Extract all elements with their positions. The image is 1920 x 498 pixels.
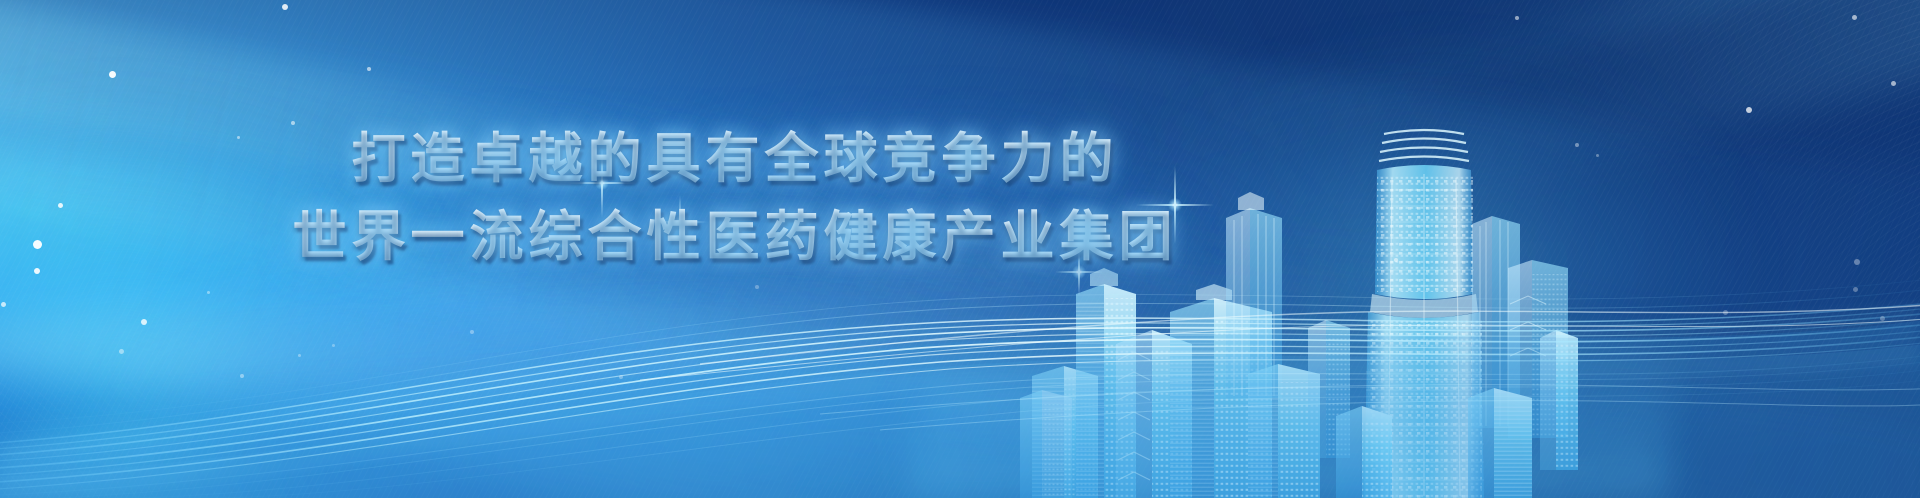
headline-line-2-wrap: 世界一流综合性医药健康产业集团 世界一流综合性医药健康产业集团 [293, 200, 1178, 274]
headline-line-2: 世界一流综合性医药健康产业集团 [293, 200, 1178, 274]
headline-line-1: 打造卓越的具有全球竞争力的 [352, 122, 1119, 196]
headline-block: 打造卓越的具有全球竞争力的 打造卓越的具有全球竞争力的 世界一流综合性医药健康产… [0, 122, 1470, 274]
headline-line-1-wrap: 打造卓越的具有全球竞争力的 打造卓越的具有全球竞争力的 [352, 122, 1119, 196]
hero-banner: 打造卓越的具有全球竞争力的 打造卓越的具有全球竞争力的 世界一流综合性医药健康产… [0, 0, 1920, 498]
